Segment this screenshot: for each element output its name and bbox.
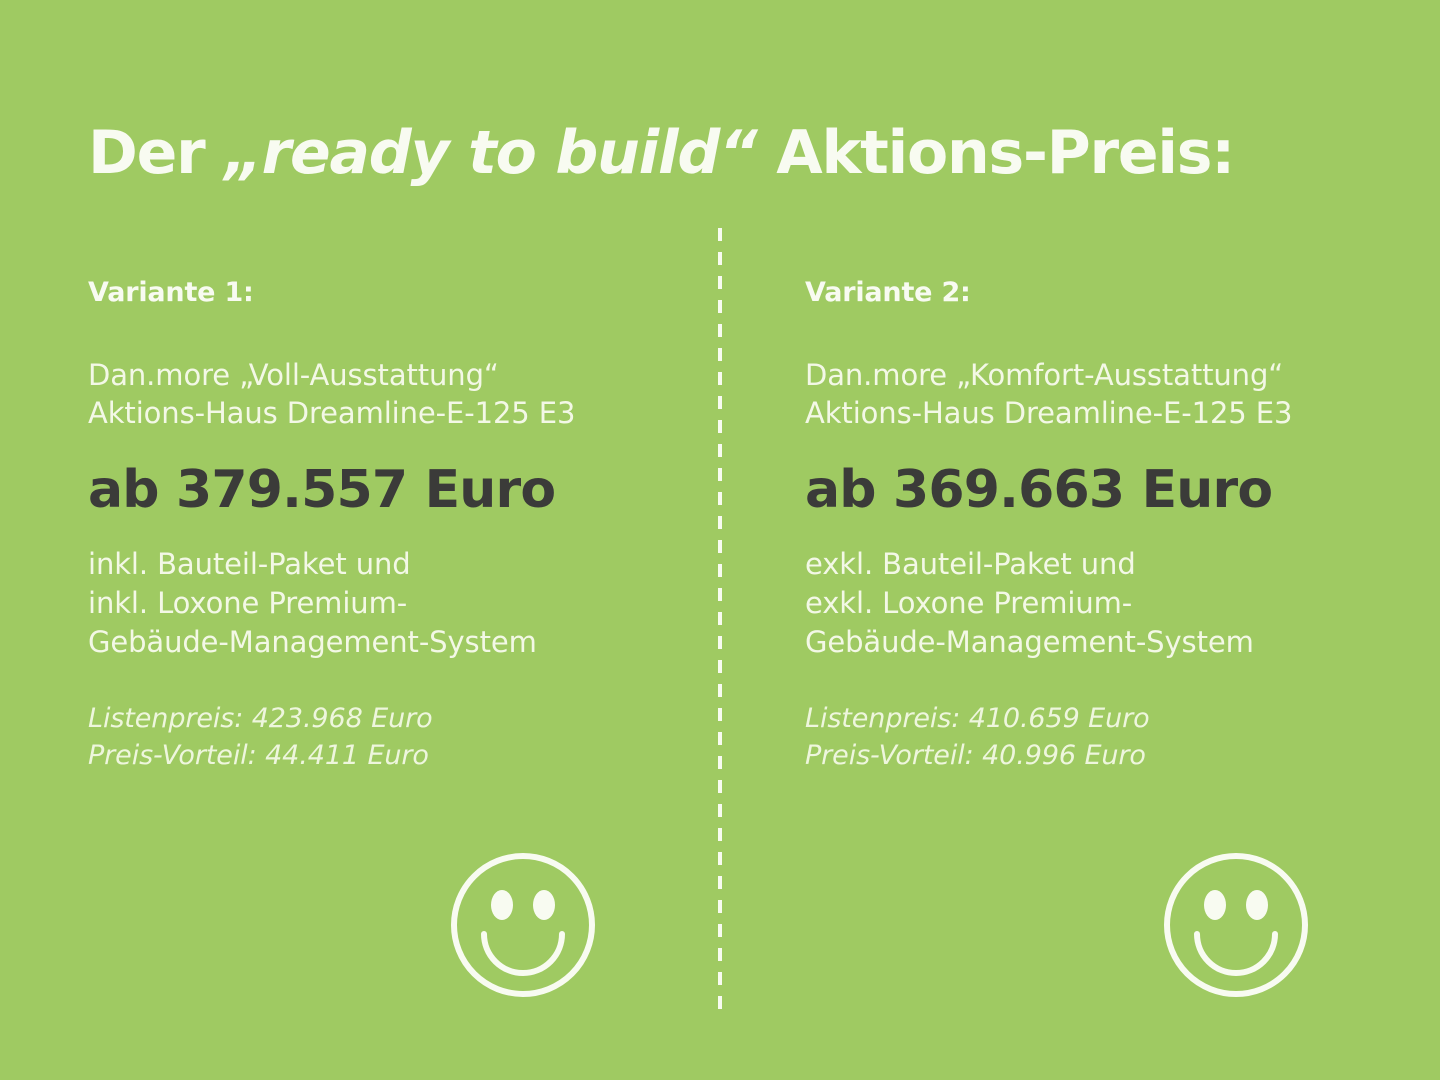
variant-column-1: Variante 1: Dan.more „Voll-Ausstattung“ … [88,278,688,774]
variant-1-includes-line-1: inkl. Bauteil-Paket und [88,545,688,584]
variant-2-includes-line-3: Gebäude-Management-System [805,623,1405,662]
variant-1-includes: inkl. Bauteil-Paket und inkl. Loxone Pre… [88,545,688,662]
variant-2-comparison: Listenpreis: 410.659 Euro Preis-Vorteil:… [805,700,1405,775]
variant-2-product-line-2: Aktions-Haus Dreamline-E-125 E3 [805,394,1405,432]
variant-2-product-line-1: Dan.more „Komfort-Ausstattung“ [805,356,1405,394]
smiley-face-icon [1162,851,1310,999]
variant-1-price: ab 379.557 Euro [88,462,688,519]
variant-2-includes: exkl. Bauteil-Paket und exkl. Loxone Pre… [805,545,1405,662]
headline-quoted: „ready to build“ [224,118,756,188]
headline-before: Der [88,118,224,188]
variant-column-2: Variante 2: Dan.more „Komfort-Ausstattun… [805,278,1405,774]
variant-1-label: Variante 1: [88,278,688,308]
variant-2-includes-line-1: exkl. Bauteil-Paket und [805,545,1405,584]
variant-1-includes-line-3: Gebäude-Management-System [88,623,688,662]
headline-after: Aktions-Preis: [757,118,1235,188]
variant-2-label: Variante 2: [805,278,1405,308]
variant-1-product-line-1: Dan.more „Voll-Ausstattung“ [88,356,688,394]
variant-2-includes-line-2: exkl. Loxone Premium- [805,584,1405,623]
variant-1-price-advantage: Preis-Vorteil: 44.411 Euro [88,737,688,774]
variant-1-includes-line-2: inkl. Loxone Premium- [88,584,688,623]
variant-2-price-advantage: Preis-Vorteil: 40.996 Euro [805,737,1405,774]
smiley-face-icon [449,851,597,999]
page-title: Der „ready to build“ Aktions-Preis: [88,122,1378,185]
variant-1-product: Dan.more „Voll-Ausstattung“ Aktions-Haus… [88,356,688,433]
variant-1-list-price: Listenpreis: 423.968 Euro [88,700,688,737]
variant-1-comparison: Listenpreis: 423.968 Euro Preis-Vorteil:… [88,700,688,775]
variant-2-product: Dan.more „Komfort-Ausstattung“ Aktions-H… [805,356,1405,433]
vertical-dashed-divider [718,228,722,1020]
promo-slide: Der „ready to build“ Aktions-Preis: Vari… [0,0,1440,1080]
variant-2-price: ab 369.663 Euro [805,462,1405,519]
variant-1-product-line-2: Aktions-Haus Dreamline-E-125 E3 [88,394,688,432]
variant-2-list-price: Listenpreis: 410.659 Euro [805,700,1405,737]
